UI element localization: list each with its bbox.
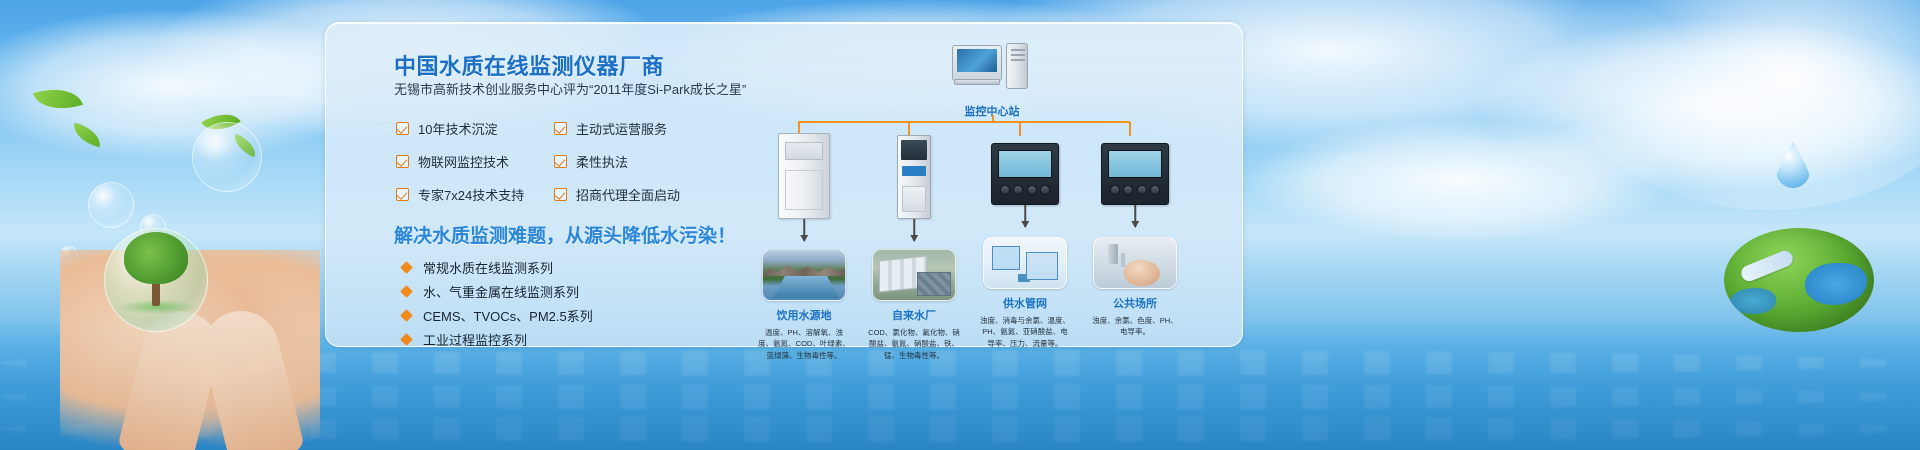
checkbox-checked-icon xyxy=(396,188,409,201)
arrow-down-icon xyxy=(1134,205,1136,227)
analyzer-door xyxy=(902,186,926,212)
scene-description: 浊度、消毒与余氯、温度、PH、氨氮、亚硝酸盐、电导率、压力、流量等。 xyxy=(977,315,1073,349)
scene-photo-water-source xyxy=(762,249,846,301)
diamond-bullet-icon xyxy=(400,309,413,322)
leaf-icon-1 xyxy=(33,80,83,118)
checkbox-checked-icon xyxy=(554,188,567,201)
meter-button-icon xyxy=(1013,185,1023,195)
scene-title: 饮用水源地 xyxy=(756,307,852,323)
feature-list: 10年技术沉淀 主动式运营服务 物联网监控技术 柔性执法 专家7x24技术支持 … xyxy=(396,119,716,204)
diamond-bullet-icon xyxy=(400,285,413,298)
system-diagram: 监控中心站 饮用水源地 温度、PH、溶解氧、浊度、氨氮、COD、叶绿素、蓝绿藻、… xyxy=(756,33,1226,343)
meter-button-icon xyxy=(1027,185,1037,195)
series-list: 常规水质在线监测系列 水、气重金属在线监测系列 CEMS、TVOCs、PM2.5… xyxy=(402,255,593,351)
series-label: CEMS、TVOCs、PM2.5系列 xyxy=(423,306,593,325)
panel-meter-icon xyxy=(1101,143,1169,205)
rack-analyzer-icon xyxy=(897,135,931,219)
series-item[interactable]: 水、气重金属在线监测系列 xyxy=(402,279,593,303)
wave-3 xyxy=(0,416,1920,442)
feature-label: 10年技术沉淀 xyxy=(418,119,497,138)
checkbox-checked-icon xyxy=(396,155,409,168)
device-column-2: 自来水厂 COD、氯化物、氟化物、硝酸盐、氨氮、硝酸盐、铁、锰、生物毒性等。 xyxy=(866,133,962,361)
feature-label: 柔性执法 xyxy=(576,152,628,171)
checkbox-checked-icon xyxy=(396,122,409,135)
series-item[interactable]: 工业过程监控系列 xyxy=(402,327,593,351)
diamond-bullet-icon xyxy=(400,333,413,346)
sun-glow xyxy=(1560,0,1920,210)
arrow-down-icon xyxy=(913,219,915,241)
meter-button-icon xyxy=(1000,185,1010,195)
checkbox-checked-icon xyxy=(554,122,567,135)
series-label: 工业过程监控系列 xyxy=(423,330,527,349)
feature-item[interactable]: 10年技术沉淀 xyxy=(396,119,554,138)
device-column-4: 公共场所 浊度、余氯、色度、PH、电导率。 xyxy=(1087,133,1183,338)
bubble-3 xyxy=(192,122,262,192)
page-subtitle: 无锡市高新技术创业服务中心评为“2011年度Si-Park成长之星” xyxy=(394,79,746,98)
tree-crown-icon xyxy=(124,232,188,284)
hands-illustration xyxy=(60,250,320,450)
hand-right xyxy=(195,303,305,450)
eco-sphere xyxy=(104,228,208,332)
cloud-1 xyxy=(0,10,380,160)
meter-button-icon xyxy=(1150,185,1160,195)
meter-button-icon xyxy=(1110,185,1120,195)
analyzer-band xyxy=(902,166,926,176)
scene-photo-pipe-network xyxy=(983,237,1067,289)
meter-buttons xyxy=(1110,182,1160,198)
meter-button-icon xyxy=(1040,185,1050,195)
meter-screen xyxy=(1108,150,1162,178)
scene-title: 自来水厂 xyxy=(866,307,962,323)
feature-item[interactable]: 招商代理全面启动 xyxy=(554,185,716,204)
scene-title: 公共场所 xyxy=(1087,295,1183,311)
globe-band xyxy=(1739,248,1795,283)
leaf-icon-2 xyxy=(70,123,103,148)
scene-photo-waterworks xyxy=(872,249,956,301)
hand-left xyxy=(117,303,227,450)
water-droplet-icon xyxy=(1776,142,1810,188)
scene-description: 温度、PH、溶解氧、浊度、氨氮、COD、叶绿素、蓝绿藻、生物毒性等。 xyxy=(756,327,852,361)
cloud-4 xyxy=(1480,20,1920,190)
arrow-down-icon xyxy=(1024,205,1026,227)
cloud-6 xyxy=(1250,120,1670,240)
feature-item[interactable]: 柔性执法 xyxy=(554,152,716,171)
series-label: 水、气重金属在线监测系列 xyxy=(423,282,579,301)
leaf-icon-3 xyxy=(201,105,240,140)
series-label: 常规水质在线监测系列 xyxy=(423,258,553,277)
meter-buttons xyxy=(1000,182,1050,198)
meter-button-icon xyxy=(1123,185,1133,195)
feature-item[interactable]: 物联网监控技术 xyxy=(396,152,554,171)
arrow-down-icon xyxy=(803,219,805,241)
device-column-3: 供水管网 浊度、消毒与余氯、温度、PH、氨氮、亚硝酸盐、电导率、压力、流量等。 xyxy=(977,133,1073,349)
bubble-4 xyxy=(60,246,78,264)
monitor-icon xyxy=(952,45,1002,81)
page-title: 中国水质在线监测仪器厂商 xyxy=(394,49,664,81)
green-globe-icon xyxy=(1724,228,1874,332)
feature-label: 招商代理全面启动 xyxy=(576,185,680,204)
feature-item[interactable]: 专家7x24技术支持 xyxy=(396,185,554,204)
feature-label: 物联网监控技术 xyxy=(418,152,509,171)
scene-description: COD、氯化物、氟化物、硝酸盐、氨氮、硝酸盐、铁、锰、生物毒性等。 xyxy=(866,327,962,361)
monitor-screen xyxy=(957,49,997,72)
scene-description: 浊度、余氯、色度、PH、电导率。 xyxy=(1087,315,1183,338)
analyzer-display xyxy=(901,140,927,160)
panel-meter-icon xyxy=(991,143,1059,205)
monitor-stand xyxy=(954,79,1000,85)
connector-bus xyxy=(798,121,1130,123)
wave-2 xyxy=(0,384,1920,410)
bubble-1 xyxy=(88,182,134,228)
section-title: 解决水质监测难题，从源头降低水污染！ xyxy=(394,221,736,248)
bubble-2 xyxy=(140,214,166,240)
scene-title: 供水管网 xyxy=(977,295,1073,311)
tree-ground xyxy=(118,300,196,314)
device-column-1: 饮用水源地 温度、PH、溶解氧、浊度、氨氮、COD、叶绿素、蓝绿藻、生物毒性等。 xyxy=(756,133,852,361)
cabinet-analyzer-icon xyxy=(778,133,830,219)
series-item[interactable]: 常规水质在线监测系列 xyxy=(402,255,593,279)
checkbox-checked-icon xyxy=(554,155,567,168)
monitoring-center-computer-icon xyxy=(952,45,1032,97)
meter-button-icon xyxy=(1137,185,1147,195)
content-panel: 中国水质在线监测仪器厂商 无锡市高新技术创业服务中心评为“2011年度Si-Pa… xyxy=(325,22,1243,347)
leaf-icon-4 xyxy=(230,134,260,158)
feature-item[interactable]: 主动式运营服务 xyxy=(554,119,716,138)
scene-photo-public-place xyxy=(1093,237,1177,289)
feature-label: 主动式运营服务 xyxy=(576,119,667,138)
feature-label: 专家7x24技术支持 xyxy=(418,185,524,204)
meter-screen xyxy=(998,150,1052,178)
series-item[interactable]: CEMS、TVOCs、PM2.5系列 xyxy=(402,303,593,327)
tree-trunk xyxy=(152,278,160,306)
diamond-bullet-icon xyxy=(400,261,413,274)
pc-tower-icon xyxy=(1006,43,1028,89)
